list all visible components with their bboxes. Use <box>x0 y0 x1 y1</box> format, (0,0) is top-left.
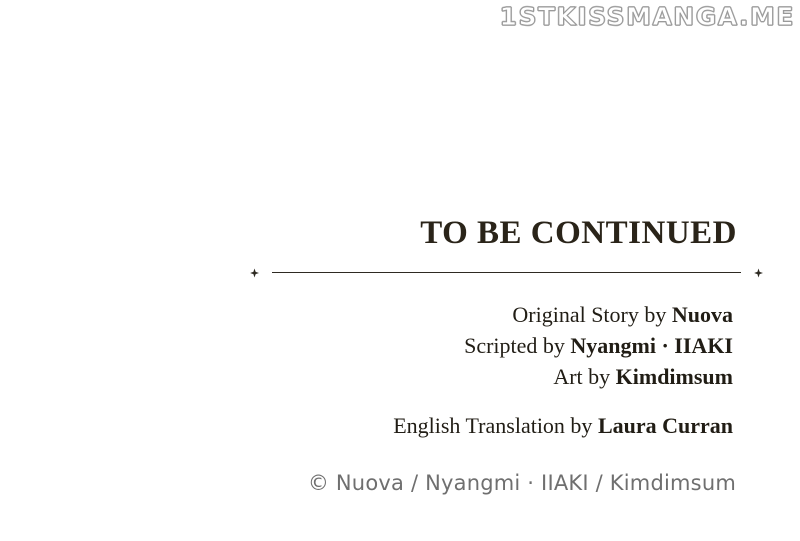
credit-name: Nyangmi · IIAKI <box>570 333 733 358</box>
credit-role: Scripted by <box>464 333 570 358</box>
credits-list: Original Story by Nuova Scripted by Nyan… <box>0 299 800 441</box>
divider-rule <box>272 272 741 273</box>
credit-line-art-by: Art by Kimdimsum <box>0 361 733 392</box>
divider <box>250 265 763 281</box>
ending-credits-block: TO BE CONTINUED Original Story by Nuova … <box>0 215 800 495</box>
diamond-ornament-left <box>250 268 259 277</box>
copyright-line: © Nuova / Nyangmi · IIAKI / Kimdimsum <box>0 471 800 495</box>
site-watermark: 1STKISSMANGA.ME <box>505 0 795 32</box>
manga-page: 1STKISSMANGA.ME TO BE CONTINUED Original… <box>0 0 800 541</box>
credit-role: Art by <box>553 364 615 389</box>
credit-name: Nuova <box>672 302 733 327</box>
diamond-ornament-right <box>754 268 763 277</box>
credit-name: Laura Curran <box>598 413 733 438</box>
credit-role: Original Story by <box>512 302 672 327</box>
credit-role: English Translation by <box>393 413 598 438</box>
credit-line-original-story: Original Story by Nuova <box>0 299 733 330</box>
credit-line-english-translation: English Translation by Laura Curran <box>0 410 733 441</box>
credit-line-scripted-by: Scripted by Nyangmi · IIAKI <box>0 330 733 361</box>
credit-name: Kimdimsum <box>616 364 733 389</box>
to-be-continued-title: TO BE CONTINUED <box>0 215 800 253</box>
